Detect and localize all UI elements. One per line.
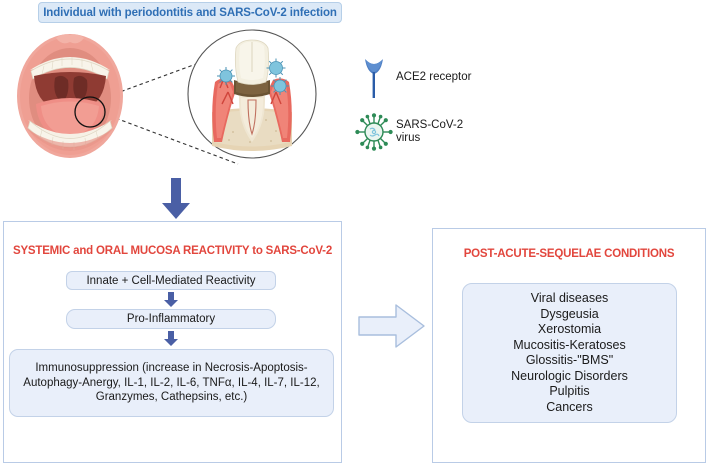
open-mouth-graphic <box>17 34 123 158</box>
illustration-svg <box>0 24 345 174</box>
step-pro-inflammatory: Pro-Inflammatory <box>66 309 276 329</box>
legend: ACE2 receptor <box>352 50 552 165</box>
flow-arrow-right <box>358 302 426 350</box>
sars-cov-2-virus-icon <box>352 112 396 152</box>
step-innate-cell-mediated-reactivity: Innate + Cell-Mediated Reactivity <box>66 271 276 290</box>
left-panel-title: SYSTEMIC and ORAL MUCOSA REACTIVITY to S… <box>3 245 342 257</box>
header-banner-label: Individual with periodontitis and SARS-C… <box>43 7 337 19</box>
step-immunosuppression: Immunosuppression (increase in Necrosis-… <box>9 349 334 417</box>
header-banner: Individual with periodontitis and SARS-C… <box>38 2 342 23</box>
ace2-receptor-icon <box>352 56 396 100</box>
arrow-proinflammatory-to-immunosuppression <box>163 331 179 347</box>
legend-item-virus: SARS-CoV-2 virus <box>352 112 463 152</box>
flow-arrow-down <box>160 178 192 220</box>
arrow-innate-to-proinflammatory <box>163 292 179 308</box>
legend-label-ace2: ACE2 receptor <box>396 71 471 85</box>
oral-cavity-illustration <box>0 24 345 174</box>
post-acute-sequelae-conditions-list: Viral diseases Dysgeusia Xerostomia Muco… <box>462 283 677 423</box>
right-panel-title: POST-ACUTE-SEQUELAE CONDITIONS <box>432 248 706 260</box>
legend-item-ace2: ACE2 receptor <box>352 56 471 100</box>
legend-label-virus: SARS-CoV-2 virus <box>396 119 463 146</box>
periodontal-tooth-closeup <box>188 30 316 158</box>
